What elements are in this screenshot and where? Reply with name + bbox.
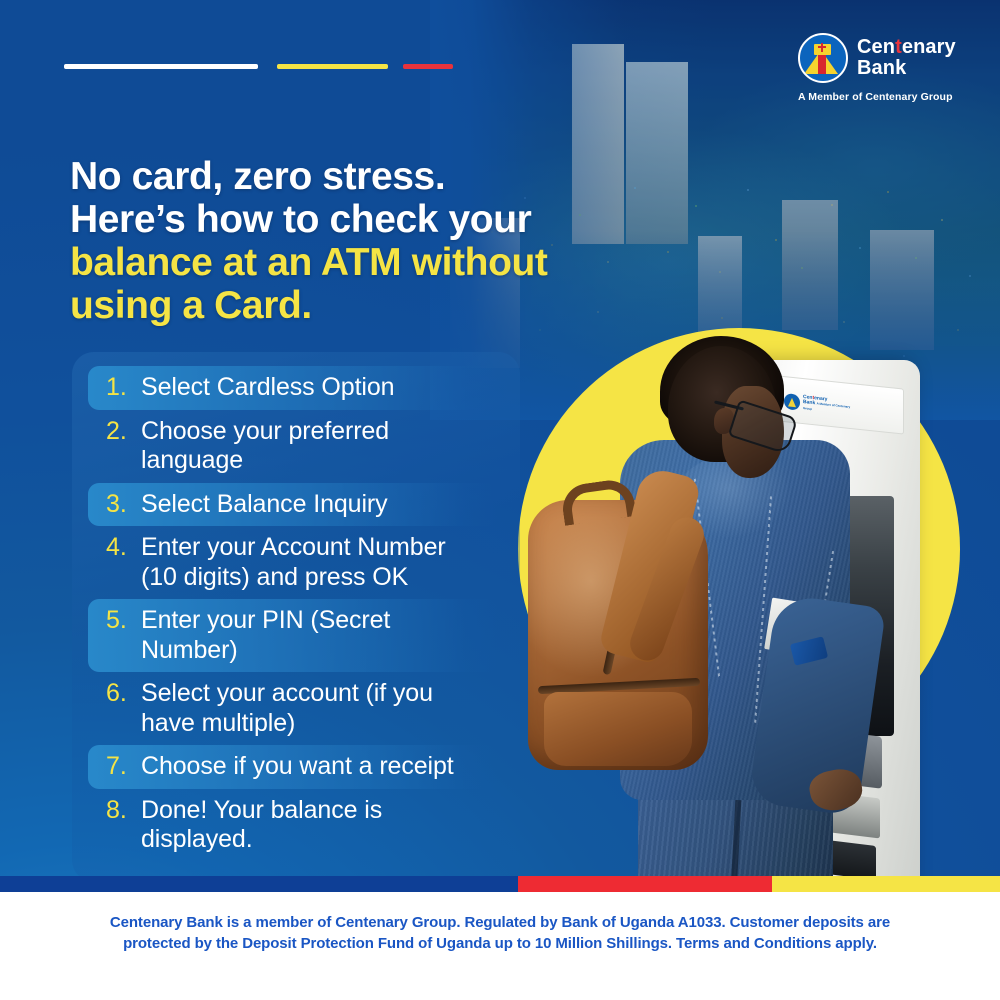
cross-icon [821,43,823,52]
page-title: No card, zero stress. Here’s how to chec… [70,156,630,328]
footer-bar: Centenary Bank is a member of Centenary … [0,892,1000,1000]
headline-line-3: balance at an ATM without [70,242,630,285]
tricolor-divider [0,876,1000,892]
accent-rule-white [64,64,258,69]
poster-canvas: Centenary Bank A Member of Centenary Gro… [0,0,1000,1000]
tricolor-segment-blue [0,876,518,892]
footer-disclaimer: Centenary Bank is a member of Centenary … [80,912,920,955]
step-label: Select Cardless Option [141,373,394,403]
accent-rule-red [403,64,453,69]
accent-rule-yellow [277,64,388,69]
headline-line-2: Here’s how to check your [70,199,630,242]
atm-logo-text: Centenary Bank A Member of Centenary Gro… [803,395,860,417]
centenary-hut-icon [798,33,848,83]
step-label: Choose your preferred language [141,417,480,476]
step-item-3: 3. Select Balance Inquiry [88,483,498,527]
steps-panel: 1. Select Cardless Option 2. Choose your… [72,352,520,882]
step-label: Select Balance Inquiry [141,490,388,520]
step-number: 5. [106,606,132,636]
centenary-hut-icon [784,393,800,411]
centenary-bank-logo[interactable]: Centenary Bank A Member of Centenary Gro… [798,33,958,111]
brand-tagline: A Member of Centenary Group [798,91,958,103]
tricolor-segment-yellow [772,876,1000,892]
headline-line-1: No card, zero stress. [70,156,630,199]
step-item-4: 4. Enter your Account Number (10 digits)… [88,526,498,599]
step-number: 3. [106,490,132,520]
step-number: 7. [106,752,132,782]
man-at-atm-photo: Centenary Bank A Member of Centenary Gro… [500,300,920,890]
backpack-pocket [544,692,692,766]
step-label: Done! Your balance is displayed. [141,796,480,855]
step-item-8: 8. Done! Your balance is displayed. [88,789,498,862]
logo-row: Centenary Bank [798,33,958,83]
step-number: 6. [106,679,132,709]
step-item-7: 7. Choose if you want a receipt [88,745,498,789]
tricolor-segment-red [518,876,772,892]
brand-name: Centenary Bank [857,37,956,79]
headline-line-4: using a Card. [70,285,630,328]
step-number: 1. [106,373,132,403]
step-number: 4. [106,533,132,563]
step-item-6: 6. Select your account (if you have mult… [88,672,498,745]
step-item-5: 5. Enter your PIN (Secret Number) [88,599,498,672]
step-label: Choose if you want a receipt [141,752,454,782]
step-label: Select your account (if you have multipl… [141,679,480,738]
step-label: Enter your Account Number (10 digits) an… [141,533,480,592]
step-item-2: 2. Choose your preferred language [88,410,498,483]
step-item-1: 1. Select Cardless Option [88,366,498,410]
step-number: 2. [106,417,132,447]
step-number: 8. [106,796,132,826]
step-label: Enter your PIN (Secret Number) [141,606,480,665]
